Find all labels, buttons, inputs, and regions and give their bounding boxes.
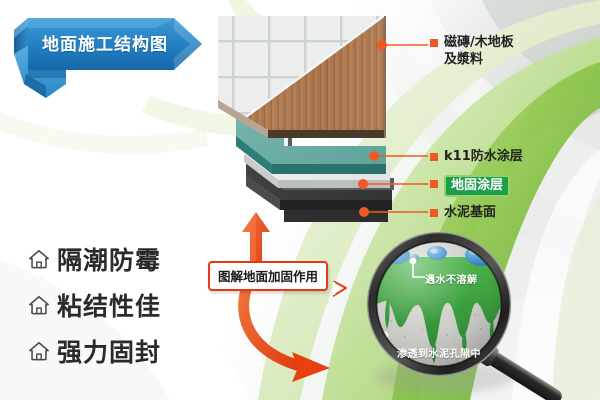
home-icon: [28, 294, 50, 316]
feature-list: 隔潮防霉 粘结性佳 强力固封: [28, 236, 228, 374]
feature-item: 强力固封: [28, 328, 228, 374]
magnifier-illustration: 遇水不溶解 渗透到水泥孔隙中: [347, 225, 597, 400]
home-icon: [28, 340, 50, 362]
callout-text: 图解地面加固作用: [218, 269, 318, 284]
magnifier-graphic: [347, 225, 597, 400]
feature-item: 隔潮防霉: [28, 236, 228, 282]
magnifier-label-penetrate-pores: 渗透到水泥孔隙中: [397, 345, 481, 360]
feature-item: 粘结性佳: [28, 282, 228, 328]
home-icon: [28, 248, 50, 270]
feature-label: 强力固封: [57, 333, 161, 369]
callout-bubble-tail: [333, 281, 347, 297]
callout-bubble: 图解地面加固作用: [208, 261, 328, 291]
arrow-curve-to-magnifier: [244, 286, 330, 382]
magnifier-label-water-insoluble: 遇水不溶解: [425, 271, 478, 286]
feature-label: 隔潮防霉: [57, 241, 161, 277]
feature-label: 粘结性佳: [57, 287, 161, 323]
poster-canvas: 地面施工结构图: [0, 0, 600, 400]
